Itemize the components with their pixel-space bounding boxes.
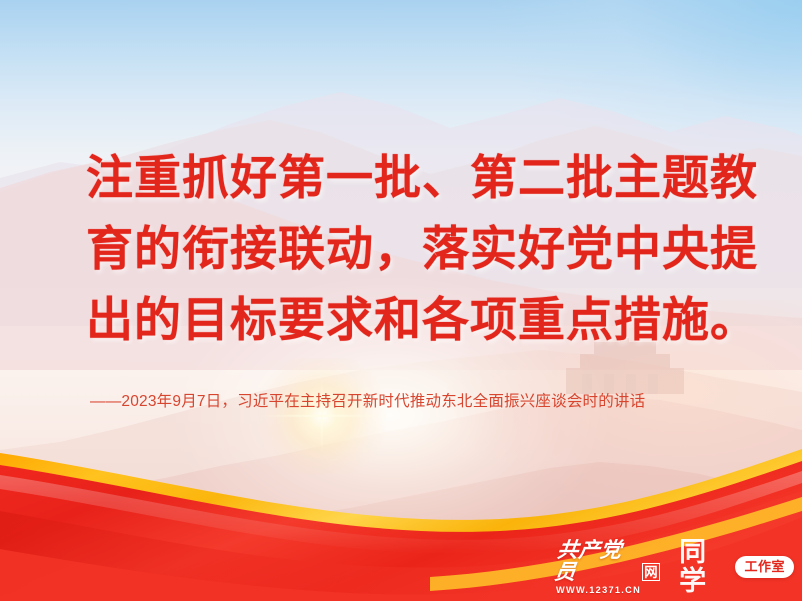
quote-attribution: ——2023年9月7日，习近平在主持召开新时代推动东北全面振兴座谈会时的讲话 <box>90 387 730 417</box>
site-logo[interactable]: 共产党员 网 WWW.12371.CN <box>556 539 660 595</box>
site-url-text: WWW.12371.CN <box>556 585 641 595</box>
studio-badge-text: 工作室 <box>735 556 794 578</box>
headline-line-1: 注重抓好第一批、第二批主题教 <box>86 142 726 213</box>
studio-logo[interactable]: 同学 工作室 <box>679 538 794 596</box>
headline-line-2: 育的衔接联动，落实好党中央提 <box>86 213 726 284</box>
site-name-text: 共产党员 <box>553 539 641 583</box>
headline-line-3: 出的目标要求和各项重点措施。 <box>86 284 726 355</box>
brand-logo[interactable]: 共产党员 网 WWW.12371.CN 同学 工作室 <box>556 543 794 591</box>
studio-name-text: 同学 <box>679 538 731 596</box>
headline-quote: 注重抓好第一批、第二批主题教 育的衔接联动，落实好党中央提 出的目标要求和各项重… <box>86 142 726 355</box>
site-suffix-badge: 网 <box>642 563 661 581</box>
poster-canvas: 注重抓好第一批、第二批主题教 育的衔接联动，落实好党中央提 出的目标要求和各项重… <box>0 0 802 601</box>
